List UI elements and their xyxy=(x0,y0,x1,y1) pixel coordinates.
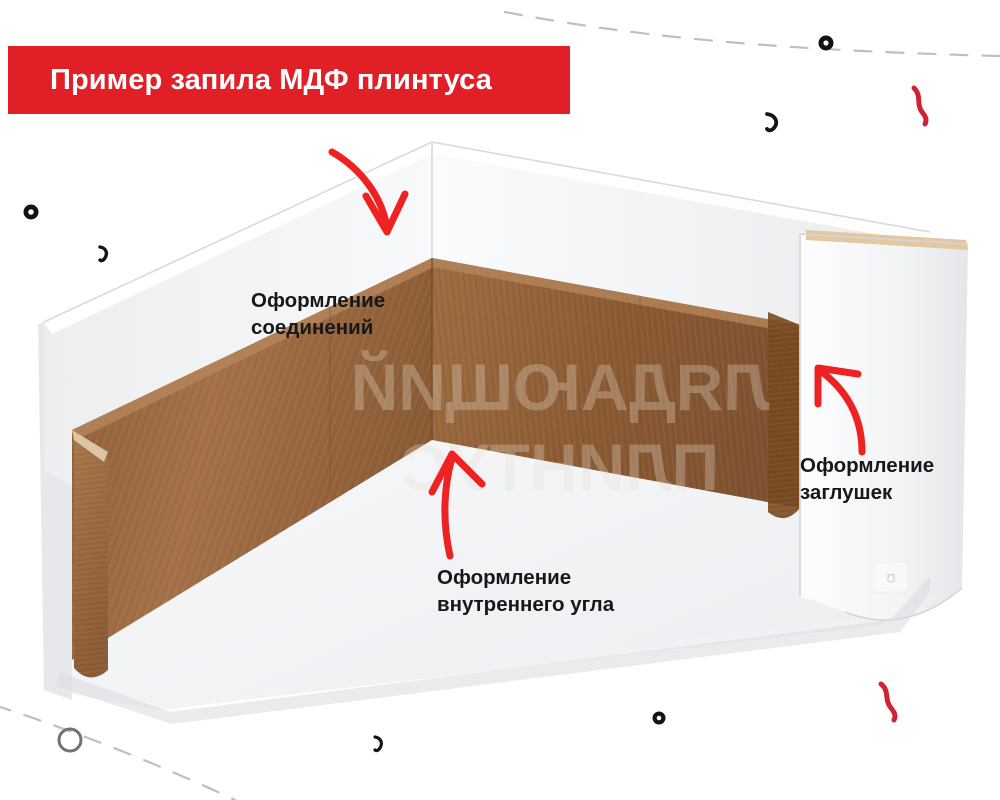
svg-text:ЛЯДАЮЩИЙ: ЛЯДАЮЩИЙ xyxy=(351,349,770,424)
callout-label-inner-corner: Оформление внутреннего угла xyxy=(437,564,614,618)
page-root: ЛЯДАЮЩИЙ ПЛИНТУС Ω xyxy=(0,0,1000,800)
floor-sticker: Ω xyxy=(874,562,908,592)
title-banner: Пример запила МДФ плинтуса xyxy=(8,46,570,114)
skirting-corner-mockup: ЛЯДАЮЩИЙ ПЛИНТУС Ω xyxy=(0,0,1000,800)
callout-label-end-caps: Оформление заглушек xyxy=(800,452,934,506)
svg-text:Ω: Ω xyxy=(886,571,895,585)
callout-label-joints: Оформление соединений xyxy=(251,287,385,341)
page-title: Пример запила МДФ плинтуса xyxy=(50,64,492,97)
skirting-right-end-grain xyxy=(768,312,800,518)
skirting-left-end-grain xyxy=(72,430,108,678)
